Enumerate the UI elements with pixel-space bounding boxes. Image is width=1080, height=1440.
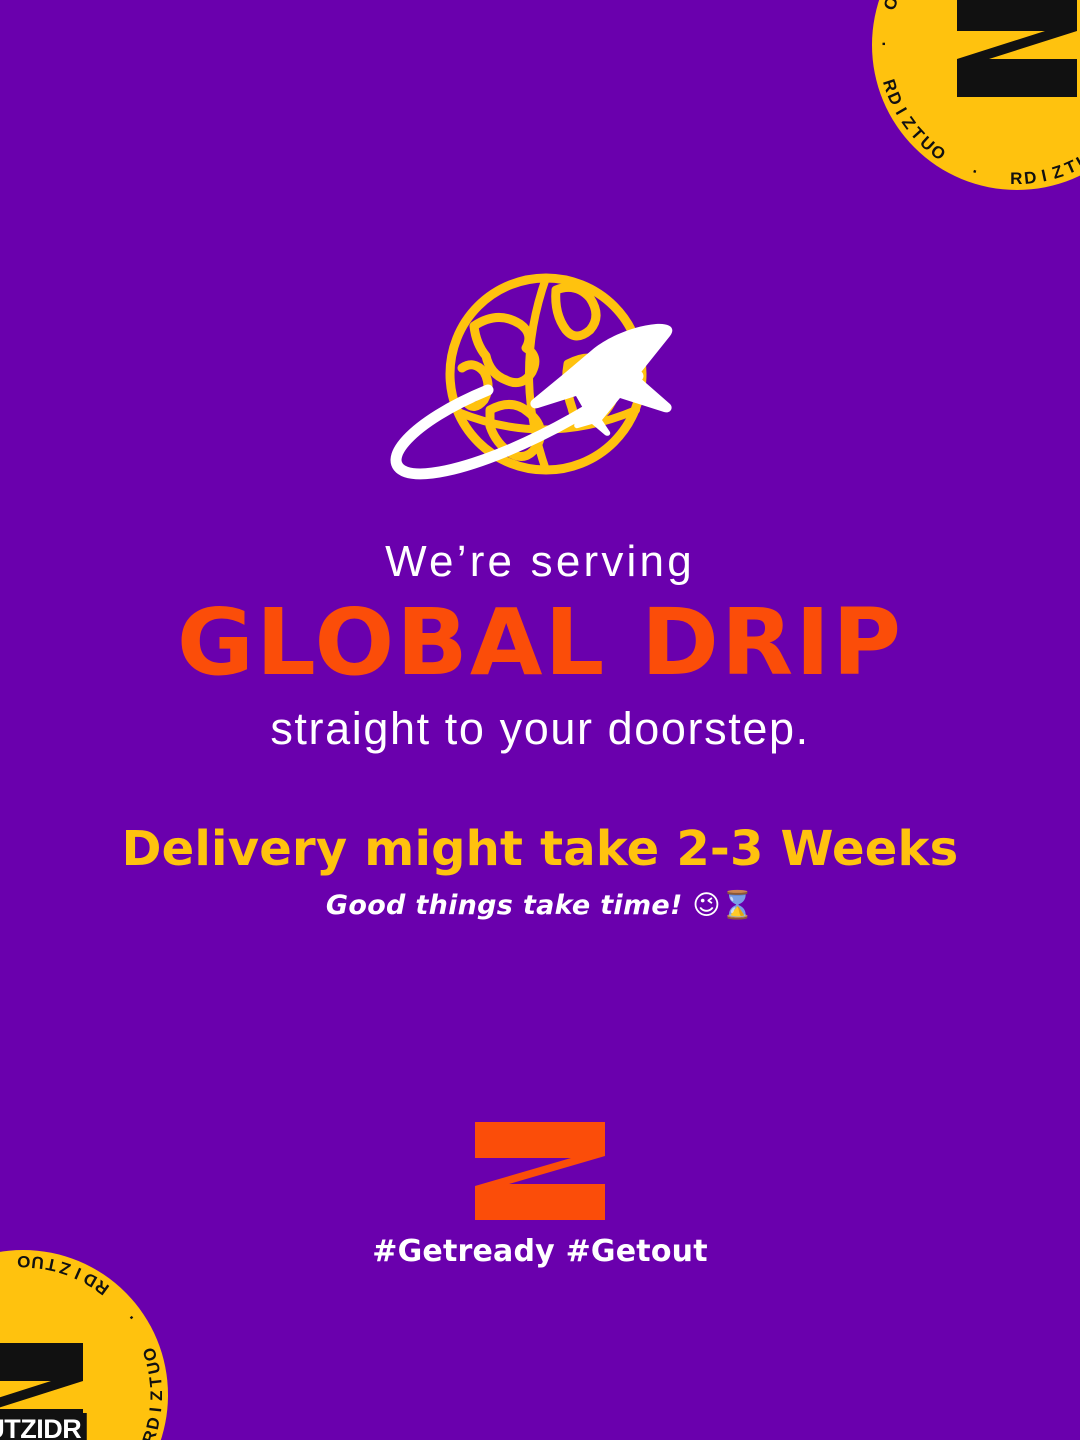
page-title: GLOBAL DRIP	[0, 594, 1080, 692]
headline-block: We’re serving GLOBAL DRIP straight to yo…	[0, 538, 1080, 753]
wink-hourglass-emoji: 😉⌛	[692, 890, 754, 921]
footer: #Getready #Getout	[0, 1122, 1080, 1269]
headline-kicker: We’re serving	[0, 538, 1080, 586]
delivery-note-text: Good things take time!	[326, 890, 683, 921]
delivery-note: Good things take time! 😉⌛	[0, 889, 1080, 921]
globe-airplane-icon	[370, 272, 710, 494]
delivery-block: Delivery might take 2-3 Weeks Good thing…	[0, 823, 1080, 921]
outzidr-z-logo	[475, 1122, 605, 1220]
hashtags: #Getready #Getout	[372, 1234, 707, 1269]
headline-subline: straight to your doorstep.	[0, 704, 1080, 754]
delivery-estimate: Delivery might take 2-3 Weeks	[0, 823, 1080, 877]
